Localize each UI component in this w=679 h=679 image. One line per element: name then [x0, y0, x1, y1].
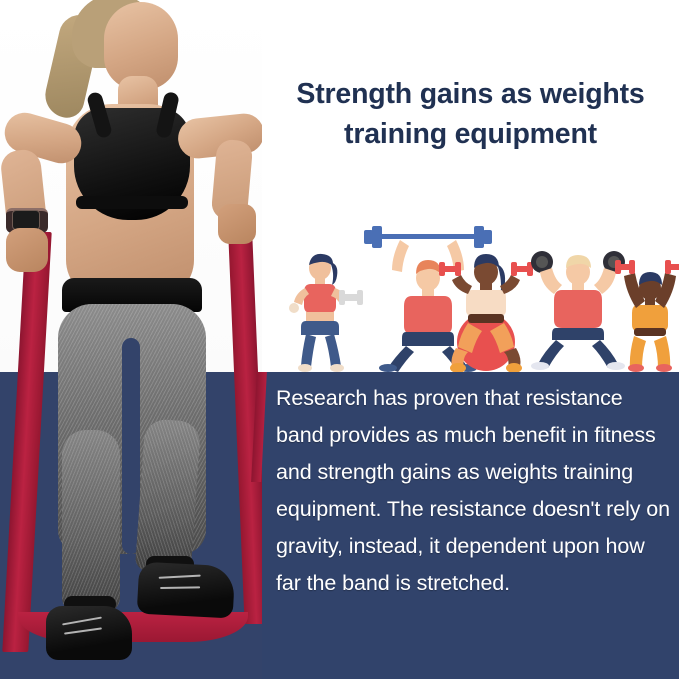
exercise-illustration-strip	[276, 212, 676, 372]
description-panel: Research has proven that resistance band…	[262, 372, 679, 679]
figure-woman-exercise-ball	[434, 238, 538, 372]
model-leg-right	[135, 418, 201, 574]
model-hand-left-grip	[6, 228, 48, 272]
model-leg-left	[62, 430, 120, 612]
model-bra-band	[76, 196, 188, 209]
smartwatch-face	[12, 210, 40, 230]
description-text: Research has proven that resistance band…	[276, 380, 672, 602]
product-marketing-image: Strength gains as weights training equip…	[0, 0, 679, 679]
figure-woman-arms-raised	[612, 242, 679, 372]
figure-woman-dumbbell-curl	[286, 252, 364, 372]
product-photo	[0, 0, 262, 679]
model-hand-right-grip	[218, 204, 256, 244]
model-shoe-left	[46, 606, 132, 660]
page-title: Strength gains as weights training equip…	[262, 74, 679, 155]
model-shoe-right	[137, 562, 236, 619]
